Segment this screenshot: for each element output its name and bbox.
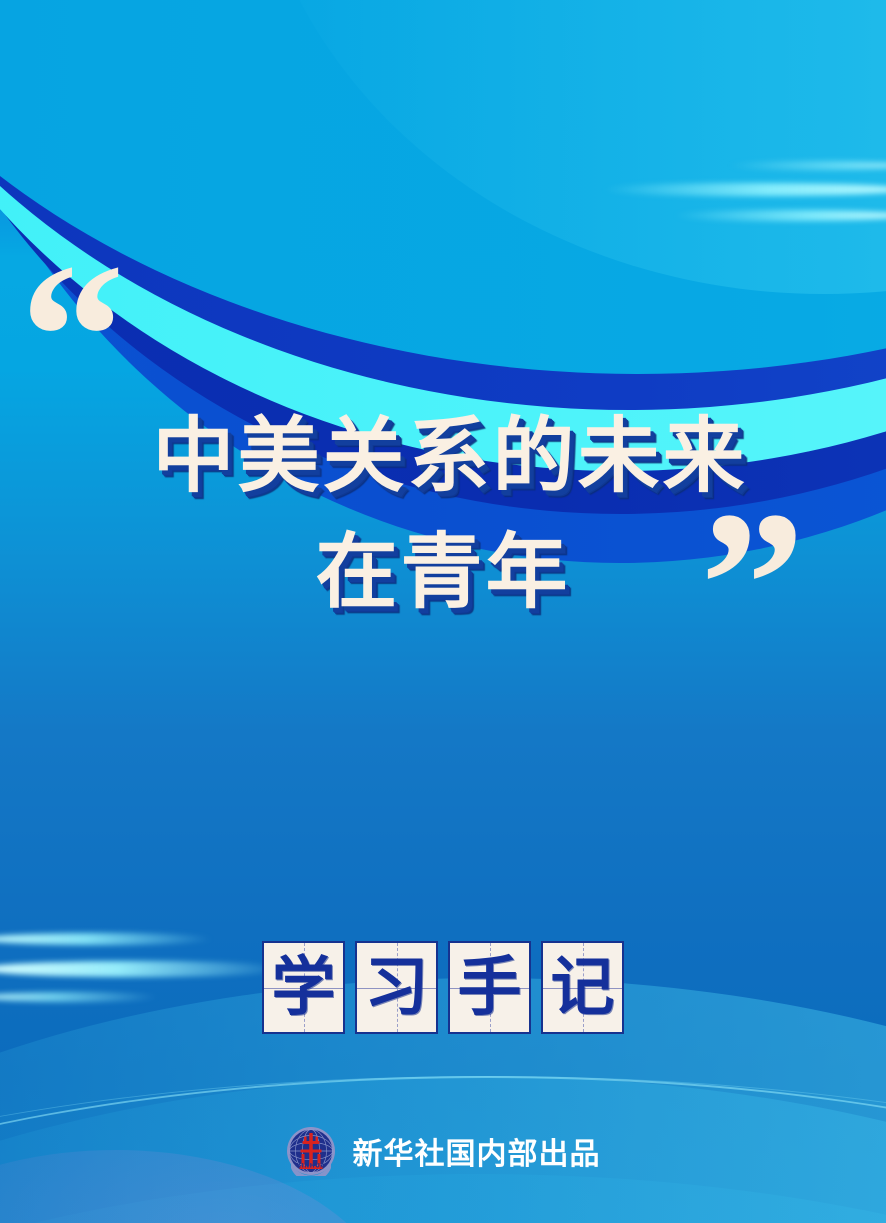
- character-glyph: 学: [264, 956, 343, 1020]
- background-band-navy-lower: [0, 0, 886, 410]
- background-band-faint-right: [248, 0, 886, 294]
- background-band-cyan-soft: [0, 0, 886, 374]
- xinhua-logo-icon: XINHUA: [286, 1126, 336, 1176]
- headline-line-2: 在青年: [0, 514, 886, 630]
- light-streak-right-middle: [602, 183, 886, 195]
- background-band-bottom-3: [0, 1174, 886, 1223]
- character-cell-4: 记: [541, 941, 624, 1034]
- light-streak-right-bottom: [673, 210, 886, 220]
- character-cell-1: 学: [262, 941, 345, 1034]
- character-glyph: 习: [357, 956, 436, 1020]
- character-cell-2: 习: [355, 941, 438, 1034]
- footer-credit-text: 新华社国内部出品: [353, 1129, 601, 1173]
- headline-block: 中美关系的未来 在青年: [0, 398, 886, 631]
- poster-canvas: “ ” 中美关系的未来 在青年 学 习 手: [0, 0, 886, 1223]
- character-cell-3: 手: [448, 941, 531, 1034]
- character-glyph: 记: [543, 956, 622, 1020]
- character-grid-row: 学 习 手 记: [0, 941, 886, 1034]
- headline-line-1: 中美关系的未来: [0, 398, 886, 514]
- footer-block: XINHUA 新华社国内部出品: [0, 1126, 886, 1176]
- xinhua-logo-caption: XINHUA: [296, 1164, 325, 1170]
- character-glyph: 手: [450, 956, 529, 1020]
- light-streak-right-top: [727, 161, 886, 170]
